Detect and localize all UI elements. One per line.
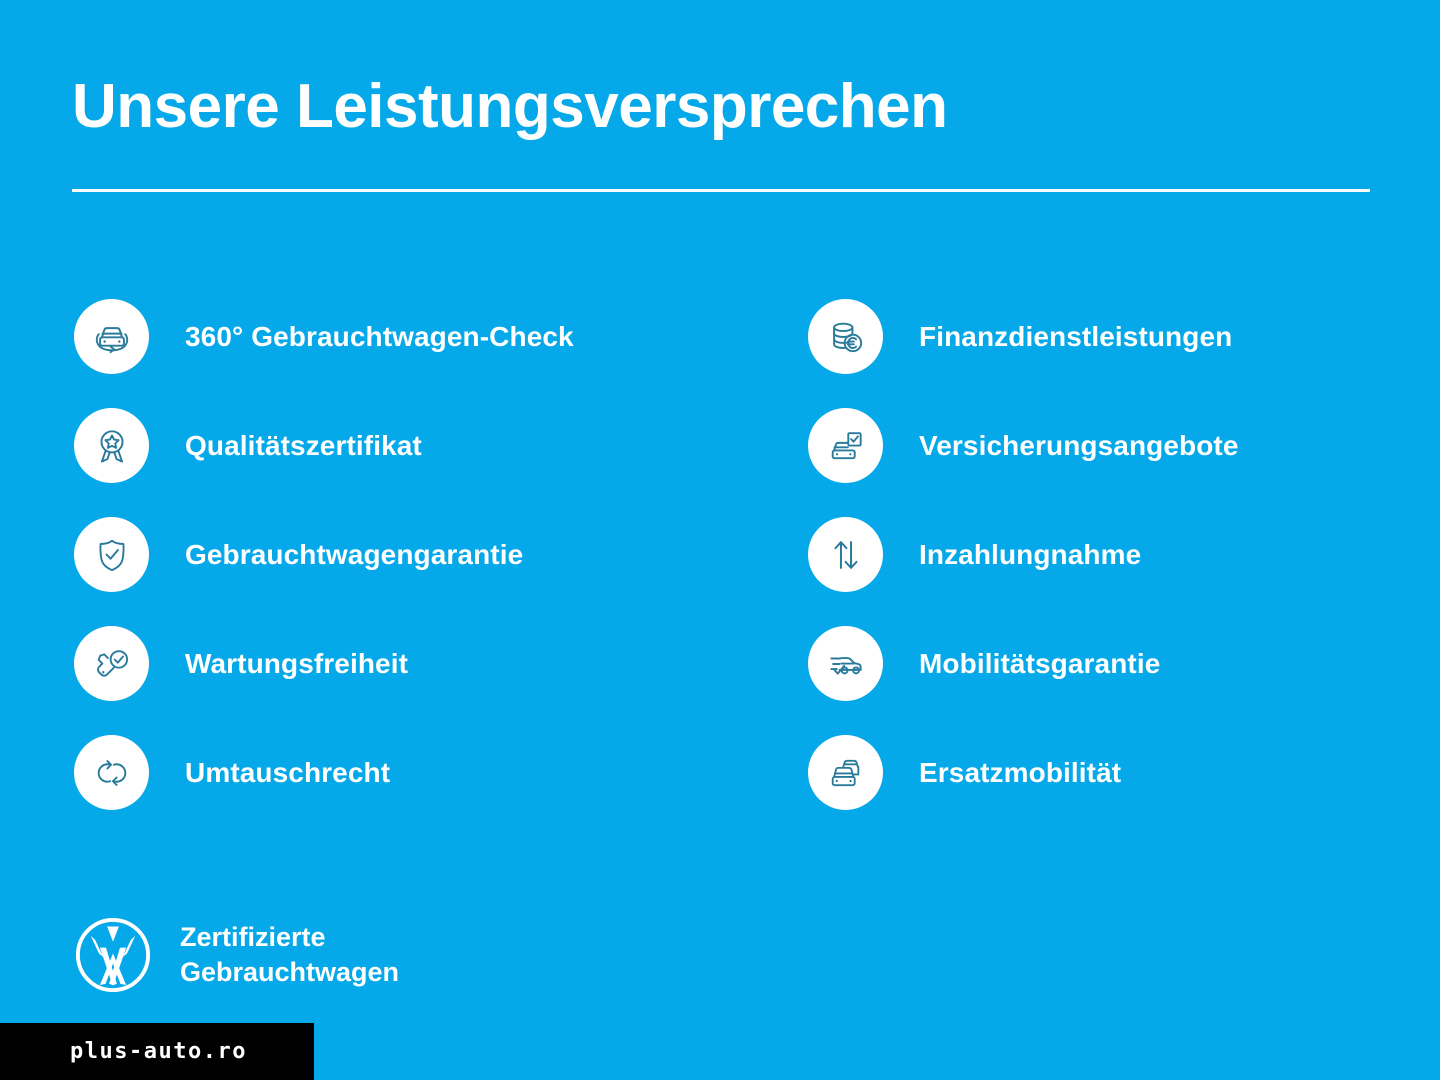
brand-line-2: Gebrauchtwagen — [180, 955, 399, 990]
shield-check-icon — [74, 517, 149, 592]
slide-root: Unsere Leistungsversprechen 360° Ge — [0, 0, 1440, 1080]
footer-url[interactable]: plus-auto.ro — [70, 1023, 247, 1080]
volkswagen-logo — [74, 916, 152, 994]
car-360-check-icon — [74, 299, 149, 374]
feature-item[interactable]: Umtauschrecht — [74, 718, 574, 827]
feature-item[interactable]: Finanzdienstleistungen — [808, 282, 1239, 391]
feature-item[interactable]: Gebrauchtwagengarantie — [74, 500, 574, 609]
feature-item[interactable]: 360° Gebrauchtwagen-Check — [74, 282, 574, 391]
feature-item[interactable]: Versicherungsangebote — [808, 391, 1239, 500]
car-speed-icon — [808, 626, 883, 701]
feature-label: Finanzdienstleistungen — [919, 321, 1232, 353]
brand-lockup: Zertifizierte Gebrauchtwagen — [74, 916, 399, 994]
feature-column-right: Finanzdienstleistungen Versicherungsange… — [808, 282, 1239, 827]
feature-label: 360° Gebrauchtwagen-Check — [185, 321, 574, 353]
feature-item[interactable]: Wartungsfreiheit — [74, 609, 574, 718]
halftone-gradient — [300, 1023, 720, 1080]
feature-label: Versicherungsangebote — [919, 430, 1239, 462]
page-title: Unsere Leistungsversprechen — [72, 74, 948, 139]
brand-line-1: Zertifizierte — [180, 920, 399, 955]
wrench-check-icon — [74, 626, 149, 701]
two-cars-icon — [808, 735, 883, 810]
award-rosette-icon — [74, 408, 149, 483]
footer-bar: plus-auto.ro — [0, 1023, 1440, 1080]
brand-text: Zertifizierte Gebrauchtwagen — [180, 920, 399, 989]
feature-label: Ersatzmobilität — [919, 757, 1121, 789]
feature-label: Qualitätszertifikat — [185, 430, 422, 462]
exchange-arrows-icon — [74, 735, 149, 810]
title-divider — [72, 189, 1370, 192]
feature-label: Gebrauchtwagengarantie — [185, 539, 523, 571]
feature-item[interactable]: Inzahlungnahme — [808, 500, 1239, 609]
feature-column-left: 360° Gebrauchtwagen-Check Qualitätszerti… — [74, 282, 574, 827]
arrows-up-down-icon — [808, 517, 883, 592]
feature-label: Mobilitätsgarantie — [919, 648, 1160, 680]
feature-item[interactable]: Mobilitätsgarantie — [808, 609, 1239, 718]
feature-label: Wartungsfreiheit — [185, 648, 408, 680]
feature-item[interactable]: Qualitätszertifikat — [74, 391, 574, 500]
feature-label: Inzahlungnahme — [919, 539, 1141, 571]
coins-euro-icon — [808, 299, 883, 374]
feature-label: Umtauschrecht — [185, 757, 390, 789]
feature-item[interactable]: Ersatzmobilität — [808, 718, 1239, 827]
car-document-check-icon — [808, 408, 883, 483]
